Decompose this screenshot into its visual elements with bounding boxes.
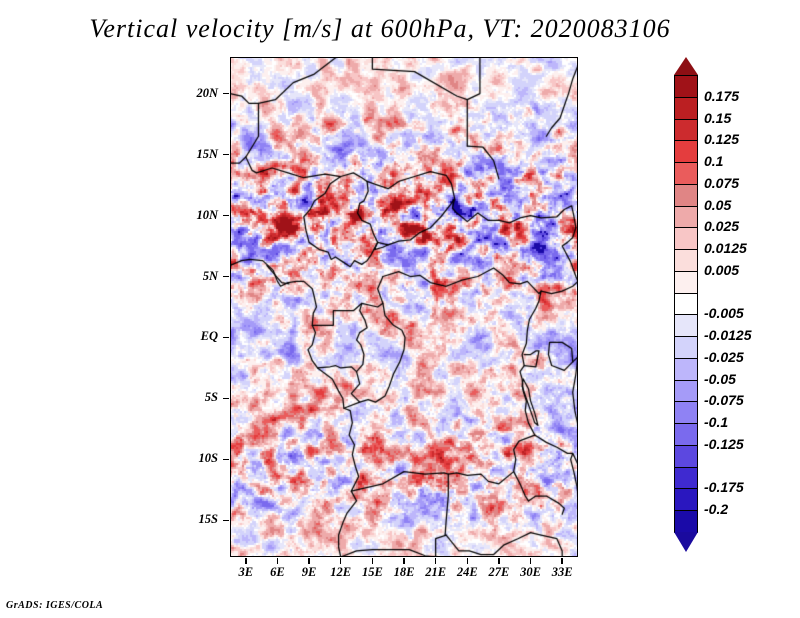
- y-axis-tick-mark: [223, 215, 229, 217]
- colorbar-segment: [674, 227, 698, 250]
- x-axis-tick-mark: [245, 558, 247, 564]
- colorbar-segment: [674, 488, 698, 511]
- colorbar-tick-label: -0.05: [704, 371, 736, 387]
- colorbar-segment: [674, 206, 698, 229]
- colorbar-segment: [674, 97, 698, 120]
- colorbar-segment: [674, 314, 698, 337]
- x-axis-tick-mark: [340, 558, 342, 564]
- map-plot-area: [230, 57, 578, 557]
- colorbar-segment: [674, 423, 698, 446]
- colorbar-bottom-arrow: [674, 532, 698, 552]
- colorbar-segment: [674, 75, 698, 98]
- y-axis-tick-label: 15N: [158, 147, 218, 162]
- colorbar-tick-label: 0.05: [704, 197, 731, 213]
- colorbar-tick-label: 0.075: [704, 175, 739, 191]
- y-axis-tick-label: 5N: [158, 269, 218, 284]
- y-axis-tick-mark: [223, 337, 229, 339]
- y-axis-tick-mark: [223, 276, 229, 278]
- colorbar-segment: [674, 336, 698, 359]
- colorbar-segment: [674, 293, 698, 316]
- colorbar: 0.1750.150.1250.10.0750.050.0250.01250.0…: [674, 57, 698, 552]
- colorbar-segment: [674, 445, 698, 468]
- y-axis-tick-label: 10N: [158, 208, 218, 223]
- x-axis-tick-mark: [435, 558, 437, 564]
- colorbar-tick-label: 0.125: [704, 131, 739, 147]
- y-axis-tick-mark: [223, 520, 229, 522]
- y-axis-tick-label: 20N: [158, 86, 218, 101]
- colorbar-tick-label: 0.0125: [704, 240, 747, 256]
- colorbar-tick-label: -0.005: [704, 305, 744, 321]
- colorbar-tick-label: -0.025: [704, 349, 744, 365]
- colorbar-tick-label: 0.005: [704, 262, 739, 278]
- colorbar-tick-label: 0.15: [704, 110, 731, 126]
- colorbar-segment: [674, 380, 698, 403]
- x-axis-tick-mark: [498, 558, 500, 564]
- x-axis-tick-mark: [308, 558, 310, 564]
- colorbar-tick-label: -0.2: [704, 501, 728, 517]
- colorbar-segment: [674, 162, 698, 185]
- colorbar-segment: [674, 184, 698, 207]
- y-axis-tick-label: 10S: [158, 451, 218, 466]
- grads-credit: GrADS: IGES/COLA: [6, 600, 103, 611]
- x-axis-tick-mark: [530, 558, 532, 564]
- colorbar-segment: [674, 358, 698, 381]
- x-axis-tick-mark: [561, 558, 563, 564]
- colorbar-tick-label: -0.175: [704, 479, 744, 495]
- colorbar-tick-label: -0.0125: [704, 327, 751, 343]
- colorbar-segment: [674, 140, 698, 163]
- x-axis-tick-mark: [277, 558, 279, 564]
- vertical-velocity-heatmap: [230, 57, 578, 557]
- colorbar-segment: [674, 510, 698, 533]
- x-axis-tick-mark: [403, 558, 405, 564]
- colorbar-segment: [674, 467, 698, 490]
- x-axis-tick-mark: [467, 558, 469, 564]
- colorbar-tick-label: -0.1: [704, 414, 728, 430]
- colorbar-segment: [674, 401, 698, 424]
- y-axis-tick-mark: [223, 154, 229, 156]
- colorbar-tick-label: -0.075: [704, 392, 744, 408]
- colorbar-segment: [674, 249, 698, 272]
- colorbar-top-arrow: [674, 57, 698, 75]
- colorbar-segment: [674, 271, 698, 294]
- y-axis-tick-mark: [223, 93, 229, 95]
- y-axis-tick-mark: [223, 398, 229, 400]
- colorbar-tick-label: 0.1: [704, 153, 723, 169]
- colorbar-tick-label: 0.025: [704, 218, 739, 234]
- colorbar-tick-label: -0.125: [704, 436, 744, 452]
- y-axis-tick-label: 15S: [158, 512, 218, 527]
- colorbar-tick-label: 0.175: [704, 88, 739, 104]
- y-axis-tick-label: EQ: [158, 329, 218, 344]
- y-axis-tick-label: 5S: [158, 390, 218, 405]
- colorbar-segment: [674, 119, 698, 142]
- x-axis-tick-mark: [372, 558, 374, 564]
- y-axis-tick-mark: [223, 459, 229, 461]
- page-title: Vertical velocity [m/s] at 600hPa, VT: 2…: [0, 14, 760, 44]
- x-axis-tick-label: 33E: [542, 565, 582, 580]
